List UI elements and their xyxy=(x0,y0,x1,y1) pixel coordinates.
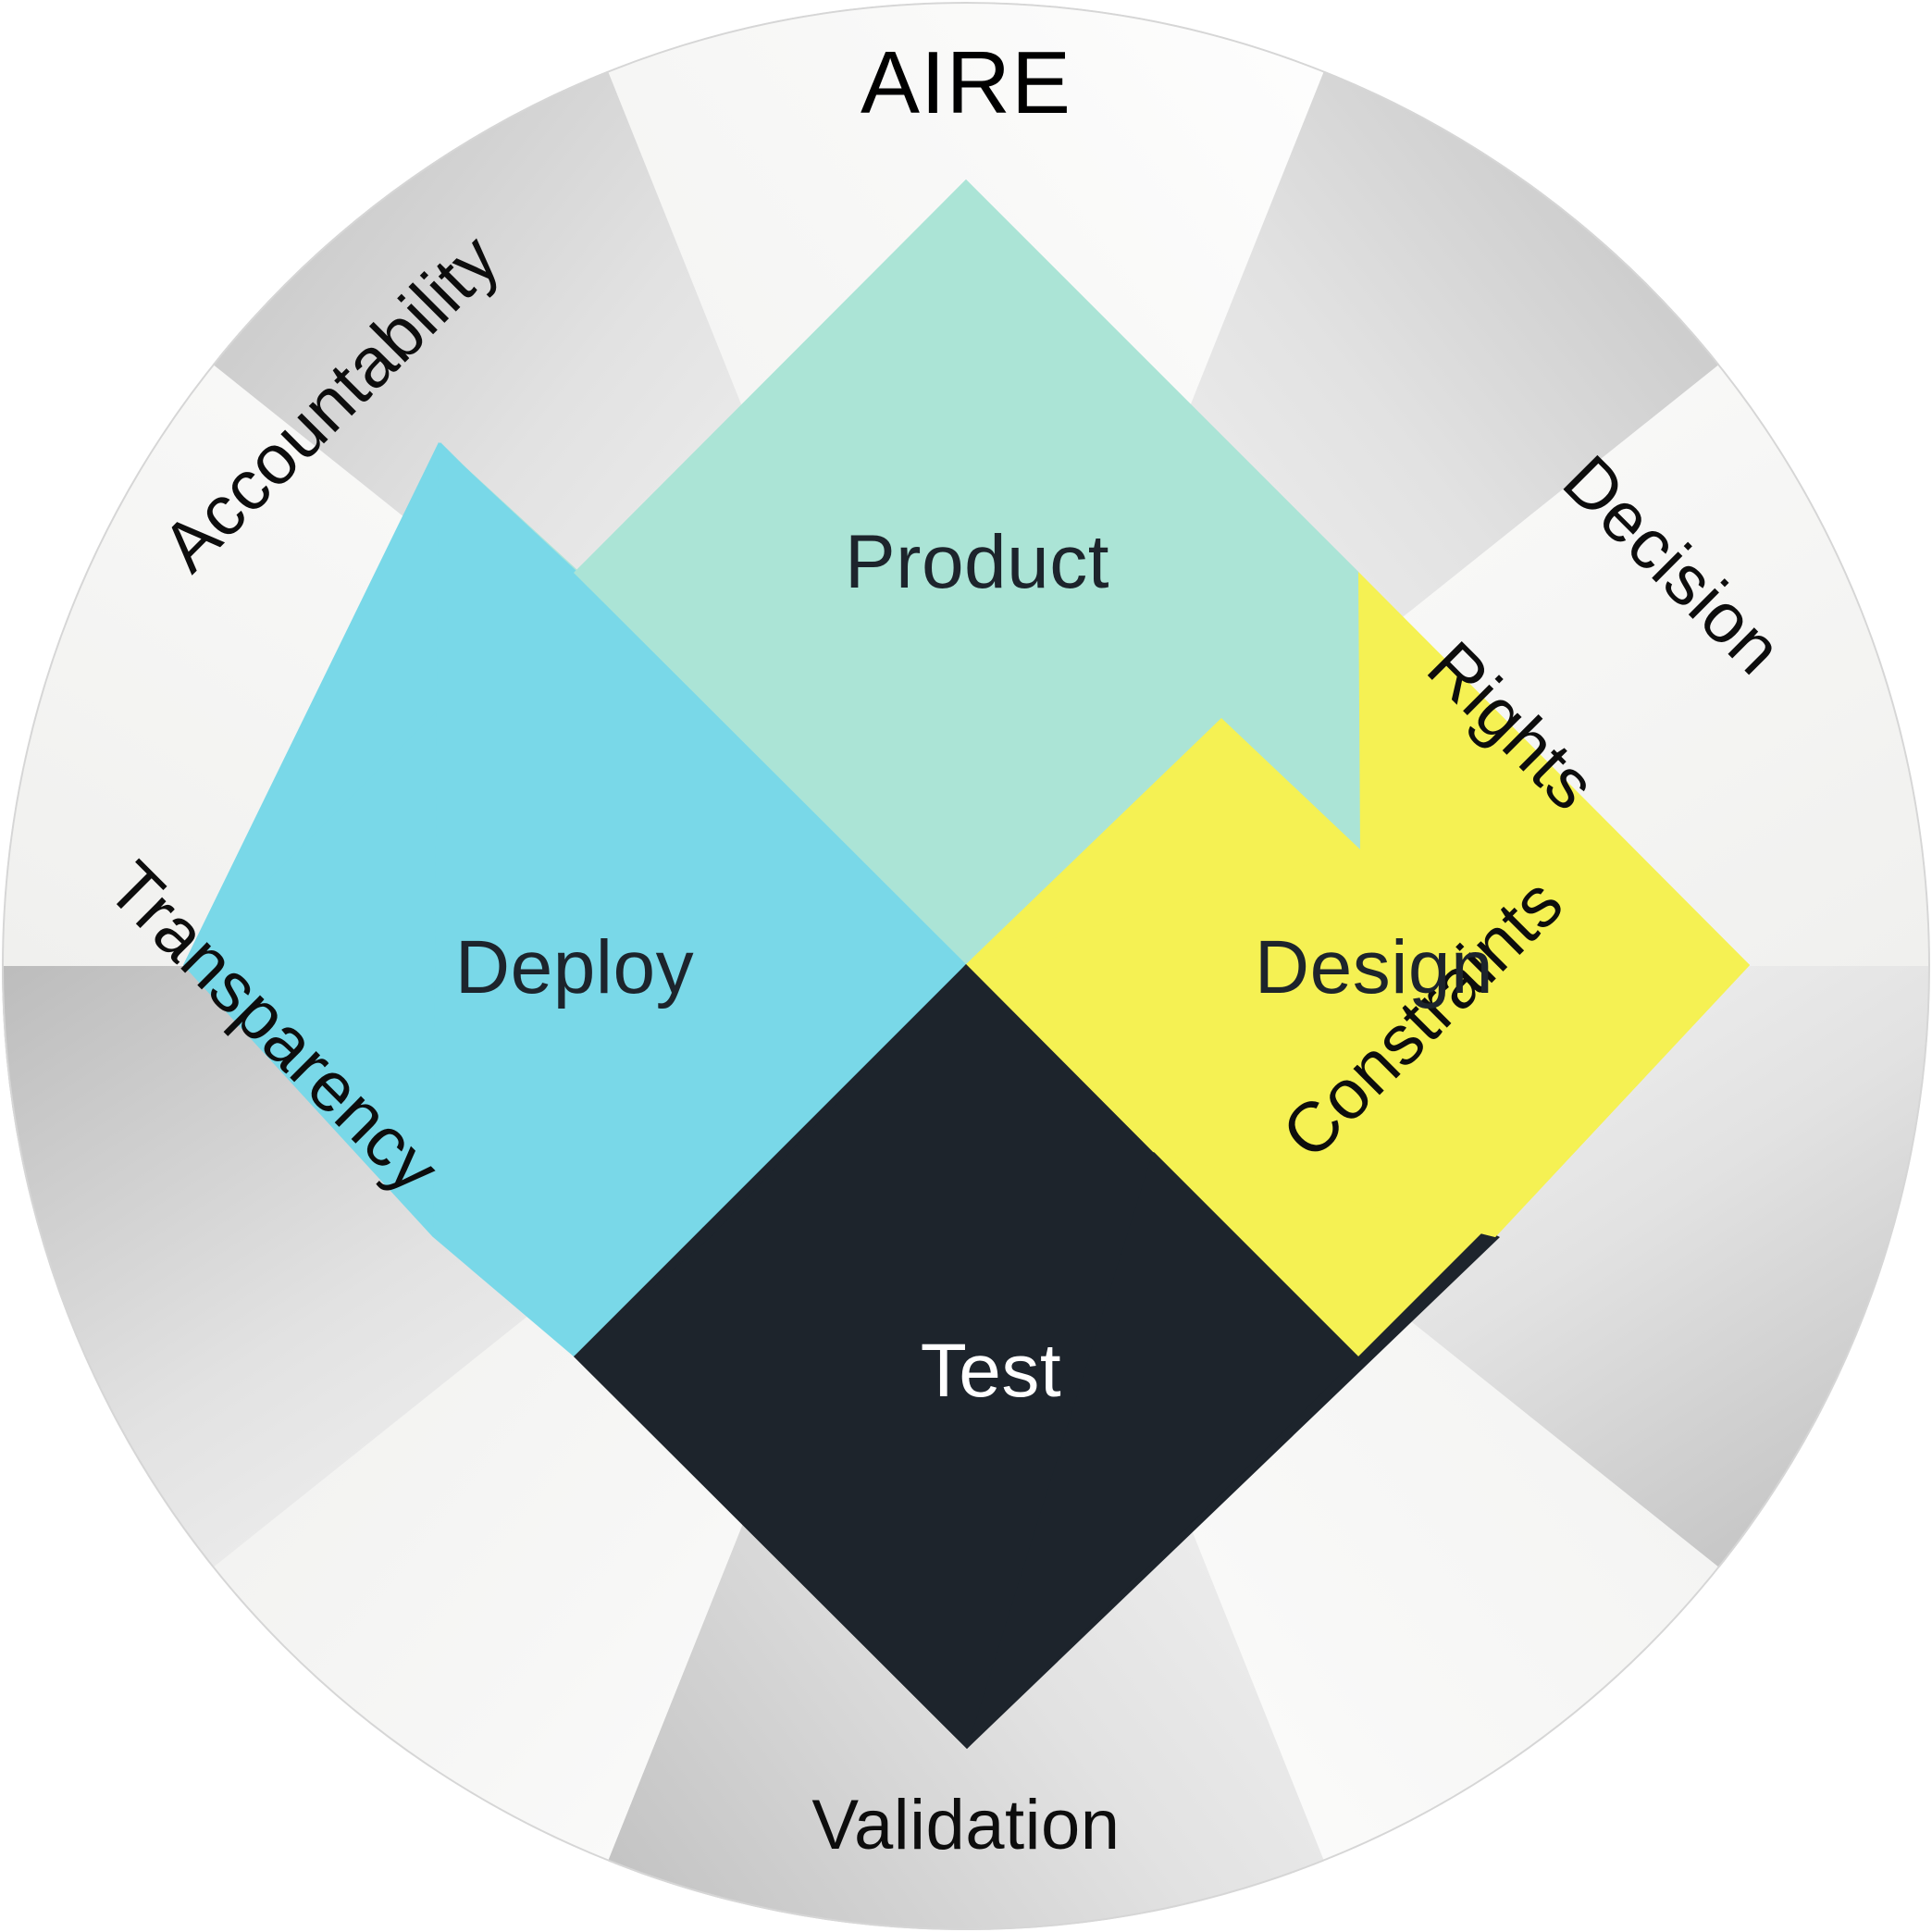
ring-label-decision-rights-line1: Decision xyxy=(1501,395,1842,737)
aire-diagram-svg xyxy=(0,0,1932,1932)
quadrant-label-deploy: Deploy xyxy=(455,924,694,1011)
quadrant-label-design: Design xyxy=(1255,924,1493,1011)
ring-label-decision-rights-line2: Rights xyxy=(1340,556,1681,898)
diagram-canvas: AIRE Accountability Decision Rights Cons… xyxy=(0,0,1932,1932)
page-title: AIRE xyxy=(861,32,1071,134)
quadrant-label-product: Product xyxy=(845,519,1109,606)
quadrant-label-test: Test xyxy=(921,1328,1061,1415)
ring-label-validation: Validation xyxy=(762,1788,1170,1864)
